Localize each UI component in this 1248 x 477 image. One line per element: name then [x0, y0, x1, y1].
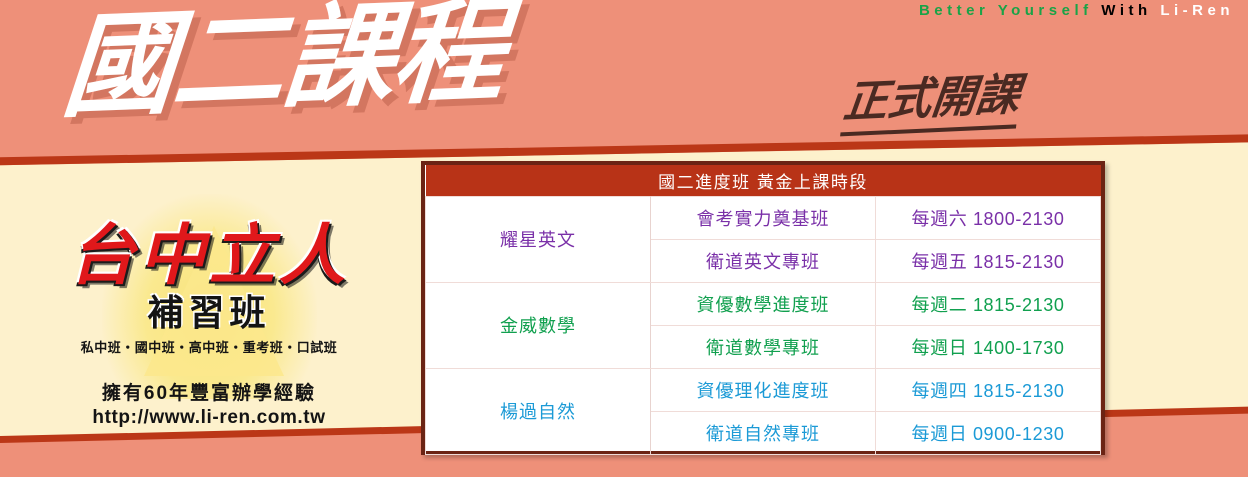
promo-banner: Better Yourself With Li-Ren 國二課程 正式開課 台中… [0, 0, 1248, 477]
schedule-table: 國二進度班 黃金上課時段 耀星英文 會考實力奠基班 每週六 1800-2130 … [425, 165, 1101, 455]
logo-class-list: 私中班・國中班・高中班・重考班・口試班 [24, 337, 394, 356]
logo-experience: 擁有60年豐富辦學經驗 [24, 378, 394, 405]
time-cell: 每週六 1800-2130 [876, 196, 1101, 239]
page-title: 國二課程 [59, 0, 508, 124]
time-cell: 每週二 1815-2130 [876, 282, 1101, 325]
tagline-word-1: Better Yourself [919, 2, 1093, 19]
schedule-body: 耀星英文 會考實力奠基班 每週六 1800-2130 衛道英文專班 每週五 18… [426, 196, 1101, 454]
brand-tagline: Better Yourself With Li-Ren [919, 2, 1234, 19]
course-cell: 會考實力奠基班 [651, 196, 876, 239]
time-cell: 每週日 1400-1730 [876, 325, 1101, 368]
table-row: 耀星英文 會考實力奠基班 每週六 1800-2130 [426, 196, 1101, 239]
school-logo: 台中立人 補習班 私中班・國中班・高中班・重考班・口試班 擁有60年豐富辦學經驗… [24, 196, 394, 428]
course-cell: 資優數學進度班 [651, 282, 876, 325]
logo-school-type: 補習班 [24, 295, 394, 331]
course-cell: 衛道英文專班 [651, 239, 876, 282]
course-cell: 衛道數學專班 [651, 325, 876, 368]
subject-cell: 楊過自然 [426, 368, 651, 454]
table-header-row: 國二進度班 黃金上課時段 [426, 165, 1101, 196]
schedule-header: 國二進度班 黃金上課時段 [426, 165, 1101, 196]
logo-website-url[interactable]: http://www.li-ren.com.tw [24, 407, 394, 429]
tagline-word-3: Li-Ren [1160, 2, 1234, 19]
time-cell: 每週四 1815-2130 [876, 368, 1101, 411]
logo-school-name: 台中立人 [24, 220, 394, 291]
table-row: 金威數學 資優數學進度班 每週二 1815-2130 [426, 282, 1101, 325]
time-cell: 每週五 1815-2130 [876, 239, 1101, 282]
subject-cell: 耀星英文 [426, 196, 651, 282]
tagline-word-2: With [1101, 2, 1151, 19]
subject-cell: 金威數學 [426, 282, 651, 368]
course-cell: 衛道自然專班 [651, 411, 876, 454]
table-row: 楊過自然 資優理化進度班 每週四 1815-2130 [426, 368, 1101, 411]
page-subtitle: 正式開課 [840, 58, 1024, 136]
course-cell: 資優理化進度班 [651, 368, 876, 411]
time-cell: 每週日 0900-1230 [876, 411, 1101, 454]
schedule-table-container: 國二進度班 黃金上課時段 耀星英文 會考實力奠基班 每週六 1800-2130 … [421, 161, 1105, 455]
